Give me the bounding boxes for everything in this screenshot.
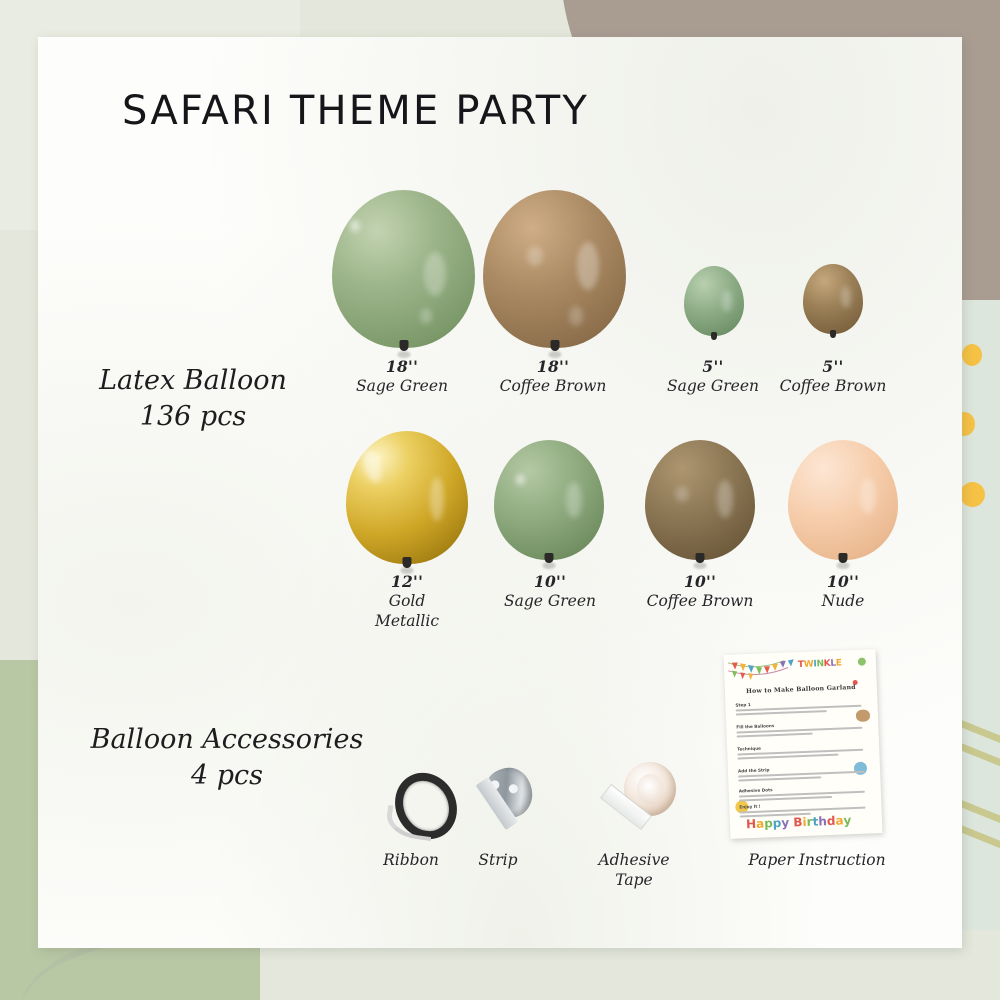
section-label-latex-balloon: Latex Balloon 136 pcs [78,363,308,436]
balloon-18-sage-green [332,190,475,348]
caption-size: 5'' [753,357,913,377]
caption-label-2: Tape [554,871,714,891]
balloon-highlight [420,308,432,324]
caption-name: Sage Green [322,377,482,397]
caption-label: Adhesive [554,851,714,871]
balloon-body [346,431,468,564]
balloon-highlight [722,290,732,312]
caption-10-nude: 10'' Nude [763,572,923,612]
decor-dot-3 [960,482,985,507]
sheet-footer: Happy Birthday [746,813,852,831]
adhesive-tape [604,762,684,844]
caption-adhesive-tape: Adhesive Tape [554,851,714,891]
sheet-block: Add the Strip [738,764,864,784]
caption-18-coffee-brown: 18'' Coffee Brown [473,357,633,397]
balloon-12-gold-metallic [346,431,468,564]
caption-size: 12'' [327,572,487,592]
balloon-neck [550,340,559,351]
sheet-heading: How to Make Balloon Garland [735,684,867,696]
tape-core [637,774,663,804]
caption-name: Sage Green [470,592,630,612]
balloon-neck [830,330,836,338]
sheet-block: Fill the Balloons [736,720,862,740]
sheet-block: Technique [737,742,863,762]
balloon-body [684,266,744,336]
ribbon-tail [384,805,435,841]
caption-size: 18'' [473,357,633,377]
balloon-neck [399,340,408,351]
strip-hole [508,783,520,795]
section-label-line2: 136 pcs [78,399,308,435]
caption-name: Coffee Brown [753,377,913,397]
caption-name: Coffee Brown [620,592,780,612]
balloon-highlight [569,306,583,326]
balloon-body [788,440,898,560]
caption-size: 10'' [763,572,923,592]
paper-instruction-icon: TWINKLE How to Make Balloon Garland Step… [724,649,883,839]
balloon-highlight [566,482,582,518]
caption-5-coffee-brown: 5'' Coffee Brown [753,357,913,397]
sheet-logo: TWINKLE [798,658,842,670]
caption-paper-instruction: Paper Instruction [722,851,912,871]
section-label-balloon-accessories: Balloon Accessories 4 pcs [72,722,382,795]
balloon-10-coffee-brown [645,440,755,560]
balloon-highlight [717,480,733,518]
caption-10-sage-green: 10'' Sage Green [470,572,630,612]
caption-name-2: Metallic [327,612,487,632]
balloon-18-coffee-brown [483,190,626,348]
caption-12-gold-metallic: 12'' Gold Metallic [327,572,487,631]
section-label-line2: 4 pcs [72,758,382,794]
balloon-neck [711,332,717,340]
decor-dot-1 [962,344,982,366]
caption-size: 10'' [470,572,630,592]
sheet-inner: TWINKLE How to Make Balloon Garland Step… [724,649,883,839]
balloon-highlight [860,478,876,514]
caption-size: 10'' [620,572,780,592]
balloon-body [332,190,475,348]
balloon-highlight [350,220,360,232]
balloon-body [483,190,626,348]
caption-18-sage-green: 18'' Sage Green [322,357,482,397]
balloon-body [494,440,604,560]
balloon-highlight [424,252,446,296]
balloon-highlight [527,246,543,266]
caption-name: Nude [763,592,923,612]
balloon-shadow [543,562,556,569]
caption-size: 18'' [322,357,482,377]
balloon-highlight [675,486,689,502]
ribbon-roll [386,770,456,840]
balloon-highlight [577,242,599,290]
balloon-shadow [837,562,850,569]
section-label-line1: Balloon Accessories [91,724,364,755]
balloon-highlight [359,447,385,484]
balloon-10-nude [788,440,898,560]
balloon-10-sage-green [494,440,604,560]
balloon-shadow [694,562,707,569]
balloon-highlight [430,477,444,521]
sheet-dot-green [858,658,866,666]
caption-name: Coffee Brown [473,377,633,397]
caption-label: Paper Instruction [722,851,912,871]
caption-10-coffee-brown: 10'' Coffee Brown [620,572,780,612]
balloon-body [803,264,863,334]
caption-name: Gold [327,592,487,612]
page-title: SAFARI THEME PARTY [122,88,589,134]
product-infographic: SAFARI THEME PARTY Latex Balloon 136 pcs [0,0,1000,1000]
section-label-line1: Latex Balloon [99,365,287,396]
sheet-block: Step 1 [735,698,861,718]
balloon-strip [472,766,542,842]
balloon-highlight [841,286,851,308]
balloon-5-coffee-brown [803,264,863,334]
balloon-highlight [516,474,525,485]
balloon-5-sage-green [684,266,744,336]
balloon-body [645,440,755,560]
